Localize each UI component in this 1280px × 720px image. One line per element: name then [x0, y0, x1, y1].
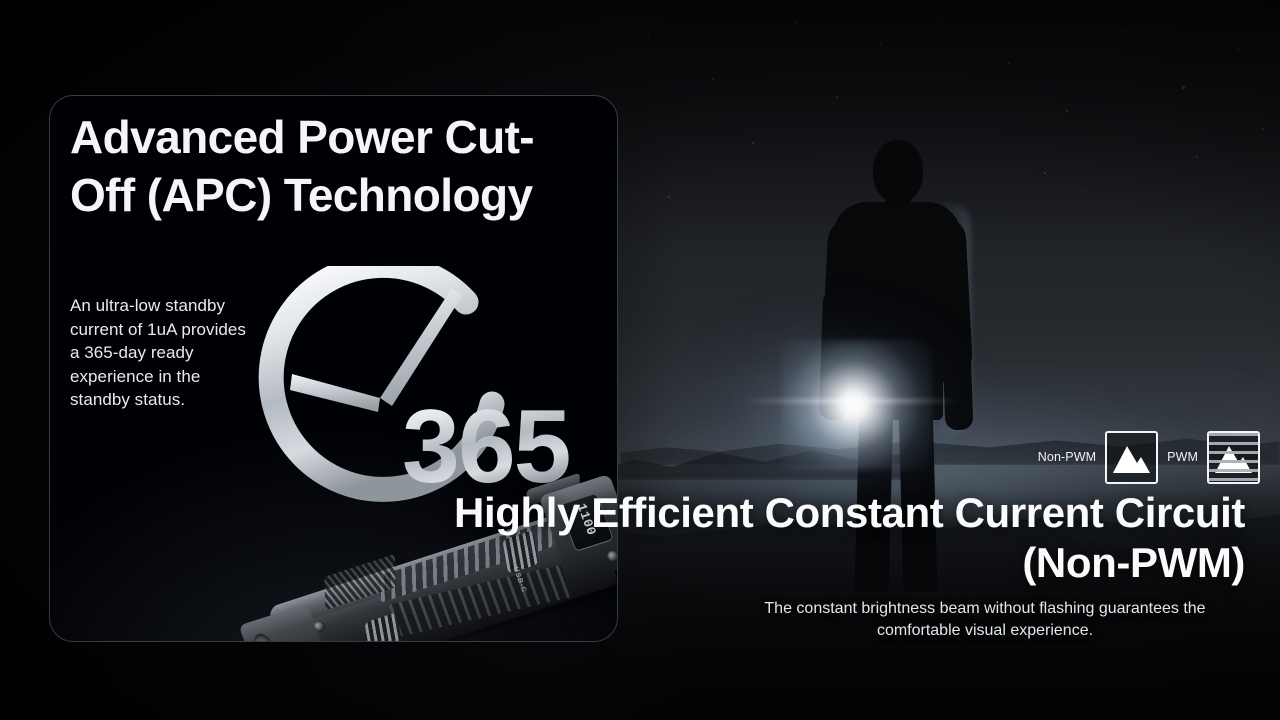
scanline-overlay	[1209, 433, 1258, 482]
non-pwm-label: Non-PWM	[1038, 450, 1096, 464]
card-body-text: An ultra-low standby current of 1uA prov…	[70, 294, 260, 412]
right-panel-subtitle: The constant brightness beam without fla…	[725, 598, 1245, 642]
mountain-scanlines-icon	[1207, 431, 1260, 484]
right-panel-title: Highly Efficient Constant Current Circui…	[445, 488, 1245, 588]
pwm-label: PWM	[1167, 450, 1198, 464]
mountain-clean-icon	[1105, 431, 1158, 484]
feature-banner: 365 1100 USB-C	[0, 0, 1280, 720]
card-title: Advanced Power Cut-Off (APC) Technology	[70, 108, 590, 224]
pwm-comparison-row: Non-PWM PWM	[1005, 428, 1260, 486]
